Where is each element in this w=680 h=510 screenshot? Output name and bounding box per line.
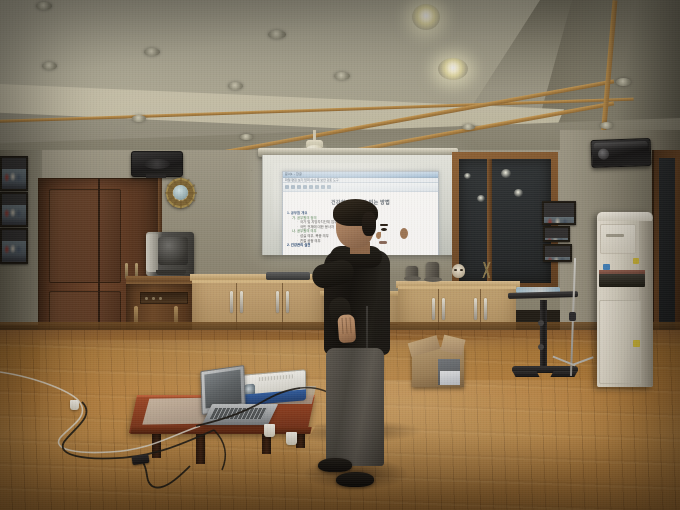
downlight-lit-icon bbox=[438, 58, 468, 80]
toolbar-icon bbox=[327, 185, 331, 189]
downlight-icon bbox=[228, 82, 243, 90]
wall-clock-icon bbox=[166, 178, 195, 208]
presenter-trousers bbox=[326, 348, 384, 466]
presenter bbox=[300, 200, 410, 490]
wall-speaker-right bbox=[591, 138, 652, 168]
framed-photo bbox=[542, 201, 576, 225]
presenter-shoe bbox=[336, 472, 374, 487]
slide-menubar: 파일 편집 보기 입력 서식 쪽 보안 검토 도구 bbox=[283, 178, 438, 183]
downlight-icon bbox=[36, 2, 52, 10]
stereo-deck bbox=[140, 292, 188, 304]
slide-menubar-text: 파일 편집 보기 입력 서식 쪽 보안 검토 도구 bbox=[285, 178, 339, 182]
toolbar-icon bbox=[297, 185, 301, 189]
downlight-lit-icon bbox=[412, 4, 440, 30]
toolbar-icon bbox=[309, 185, 313, 189]
wooden-mask bbox=[452, 264, 465, 278]
toolbar-icon bbox=[303, 185, 307, 189]
slide-toolbar bbox=[283, 183, 438, 192]
framed-photo bbox=[0, 228, 28, 264]
toolbar-icon bbox=[315, 185, 319, 189]
mic-stand-clamp bbox=[569, 312, 576, 321]
presenter-shoe bbox=[318, 458, 352, 472]
downlight-icon bbox=[144, 48, 160, 56]
speaker-bracket bbox=[146, 174, 166, 178]
dried-twig-decor bbox=[472, 262, 502, 278]
toolbar-icon bbox=[285, 185, 289, 189]
presenter-hair-side bbox=[362, 212, 376, 236]
downlight-icon bbox=[600, 122, 613, 129]
downlight-icon bbox=[240, 134, 253, 140]
downlight-icon bbox=[462, 124, 475, 130]
presenter-raised-hand bbox=[337, 314, 356, 343]
framed-photo bbox=[0, 192, 28, 227]
downlight-icon bbox=[334, 72, 350, 80]
crt-television bbox=[146, 232, 194, 276]
framed-photo bbox=[543, 226, 570, 242]
pot-stand bbox=[424, 277, 442, 282]
downlight-icon bbox=[42, 62, 57, 70]
downlight-icon bbox=[132, 115, 146, 122]
framed-photo bbox=[543, 244, 572, 262]
framed-photo bbox=[0, 156, 28, 191]
photo-scene: 문서1 - 한글 파일 편집 보기 입력 서식 쪽 보안 검토 도구 건강한 공… bbox=[0, 0, 680, 510]
toolbar-icon bbox=[321, 185, 325, 189]
door-split bbox=[98, 178, 100, 343]
downlight-icon bbox=[616, 78, 631, 86]
slide-titlebar-text: 문서1 - 한글 bbox=[285, 172, 405, 177]
toolbar-icon bbox=[291, 185, 295, 189]
downlight-icon bbox=[268, 30, 286, 39]
